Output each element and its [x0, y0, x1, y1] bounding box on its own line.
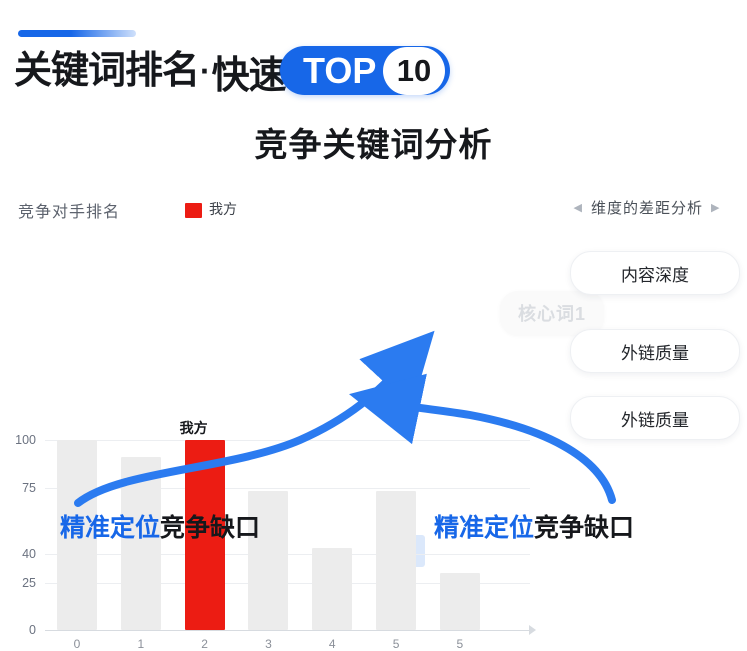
annotation-right-normal: 竞争缺口 [534, 514, 634, 542]
chart-bar [376, 491, 416, 630]
x-axis-tick-label: 5 [440, 637, 480, 651]
page-title-separator: · [199, 53, 212, 90]
dimension-header: ◀ 维度的差距分析 ▶ [552, 197, 742, 218]
dimension-card[interactable]: 外链质量 [570, 329, 740, 373]
accent-bar [18, 30, 136, 37]
annotation-right: 精准定位竞争缺口 [434, 508, 634, 544]
x-axis-tick-label: 1 [121, 637, 161, 651]
page-title-part2: 快速 [212, 44, 286, 99]
annotation-left-normal: 竞争缺口 [160, 514, 260, 542]
chart-bar [440, 573, 480, 630]
dimension-card-label: 外链质量 [621, 406, 689, 431]
page-title-part1: 关键词排名 [14, 47, 199, 95]
gridline [45, 488, 530, 489]
chart-panel: 0254075100 我方 0123455 [0, 185, 540, 485]
y-axis-tick-label: 25 [22, 576, 36, 590]
annotation-left-strong: 精准定位 [60, 514, 160, 542]
page-subtitle: 竞争关键词分析 [0, 118, 747, 166]
x-axis-tick-label: 4 [312, 637, 352, 651]
dimension-header-label: 维度的差距分析 [591, 197, 703, 218]
top-badge-number: 10 [383, 47, 445, 95]
dimension-card[interactable]: 内容深度 [570, 251, 740, 295]
chevron-right-icon: ▶ [711, 201, 720, 214]
chart-bar-highlight-label: 我方 [180, 418, 208, 438]
dimension-card-label: 外链质量 [621, 339, 689, 364]
annotation-left: 精准定位竞争缺口 [60, 508, 260, 544]
top-badge-label: TOP [303, 48, 376, 94]
y-axis-tick-label: 75 [22, 481, 36, 495]
dimension-card-label: 内容深度 [621, 261, 689, 286]
chart-x-axis-line [45, 630, 530, 631]
y-axis-tick-label: 100 [15, 433, 36, 447]
chart-x-axis-arrow [529, 625, 536, 635]
x-axis-tick-label: 5 [376, 637, 416, 651]
gridline [45, 440, 530, 441]
x-axis-tick-label: 2 [185, 637, 225, 651]
dimension-card[interactable]: 外链质量 [570, 396, 740, 440]
page-title: 关键词排名 · 快速 [14, 44, 286, 98]
x-axis-tick-label: 0 [57, 637, 97, 651]
y-axis-tick-label: 0 [29, 623, 36, 637]
chart-bar [312, 548, 352, 630]
x-axis-tick-label: 3 [248, 637, 288, 651]
annotation-right-strong: 精准定位 [434, 514, 534, 542]
y-axis-tick-label: 40 [22, 547, 36, 561]
chevron-left-icon: ◀ [574, 201, 583, 214]
